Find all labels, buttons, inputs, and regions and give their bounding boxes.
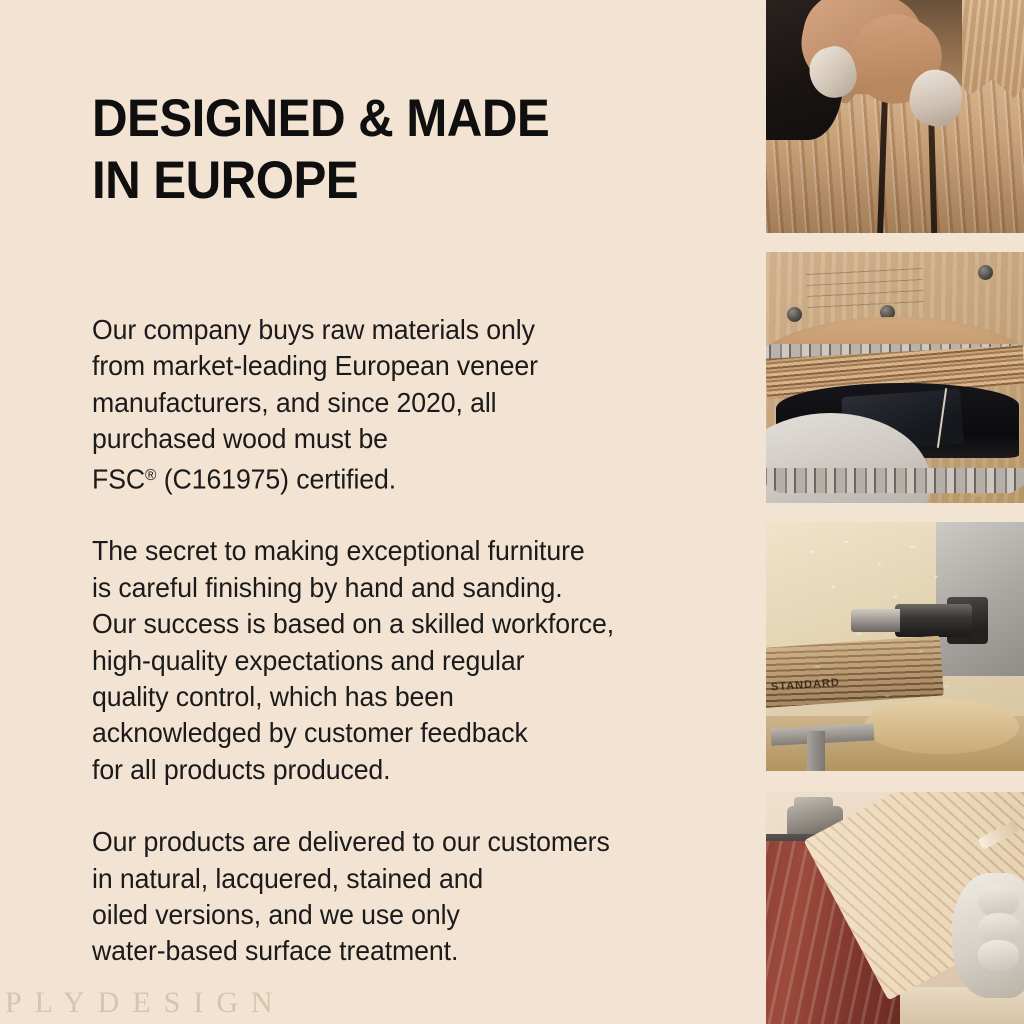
paragraph-craftsmanship-line-6: acknowledged by customer feedback xyxy=(92,715,713,751)
body-copy: Our company buys raw materials only from… xyxy=(92,312,732,970)
paragraph-finishes-line-2: in natural, lacquered, stained and xyxy=(92,861,713,897)
photo-cnc-milling-art: STANDARD xyxy=(766,522,1024,771)
photo-sanding-drum xyxy=(766,792,1024,1024)
photo-press-mould xyxy=(766,252,1024,503)
photo-column: STANDARD xyxy=(766,0,1024,1024)
paragraph-craftsmanship-line-5: quality control, which has been xyxy=(92,679,713,715)
fsc-code-suffix: (C161975) certified. xyxy=(156,463,396,494)
handwritten-note xyxy=(806,267,924,313)
paragraph-finishes: Our products are delivered to our custom… xyxy=(92,824,713,970)
brand-watermark: PLYDESIGN xyxy=(5,988,286,1018)
wood-chips-spray xyxy=(766,522,1024,771)
paragraph-craftsmanship-line-1: The secret to making exceptional furnitu… xyxy=(92,533,713,569)
photo-sanding-drum-art xyxy=(766,792,1024,1024)
photo-veneer-sheets xyxy=(766,0,1024,233)
poster-page: DESIGNED & MADE IN EUROPE Our company bu… xyxy=(0,0,1024,1024)
fsc-prefix: FSC xyxy=(92,463,145,494)
paragraph-craftsmanship-line-4: high-quality expectations and regular xyxy=(92,643,713,679)
headline-line-2: IN EUROPE xyxy=(92,150,669,212)
paragraph-materials-line-4: purchased wood must be xyxy=(92,421,713,457)
paragraph-craftsmanship-line-2: is careful finishing by hand and sanding… xyxy=(92,570,713,606)
paragraph-materials-line-2: from market-leading European veneer xyxy=(92,348,713,384)
paragraph-craftsmanship-line-3: Our success is based on a skilled workfo… xyxy=(92,606,713,642)
photo-press-mould-art xyxy=(766,252,1024,503)
page-title: DESIGNED & MADE IN EUROPE xyxy=(92,88,669,212)
paragraph-craftsmanship: The secret to making exceptional furnitu… xyxy=(92,533,713,788)
paragraph-materials-line-3: manufacturers, and since 2020, all xyxy=(92,385,713,421)
paragraph-materials-line-1: Our company buys raw materials only xyxy=(92,312,713,348)
fsc-certification-line: FSC® (C161975) certified. xyxy=(92,458,713,498)
paragraph-craftsmanship-line-7: for all products produced. xyxy=(92,752,713,788)
paragraph-finishes-line-4: water-based surface treatment. xyxy=(92,933,713,969)
registered-trademark-icon: ® xyxy=(145,467,156,484)
paragraph-materials: Our company buys raw materials only from… xyxy=(92,312,713,497)
headline-line-1: DESIGNED & MADE xyxy=(92,88,669,150)
paragraph-finishes-line-1: Our products are delivered to our custom… xyxy=(92,824,713,860)
paragraph-finishes-line-3: oiled versions, and we use only xyxy=(92,897,713,933)
text-column: DESIGNED & MADE IN EUROPE Our company bu… xyxy=(92,0,722,1024)
photo-veneer-sheets-art xyxy=(766,0,1024,233)
photo-cnc-milling: STANDARD xyxy=(766,522,1024,771)
